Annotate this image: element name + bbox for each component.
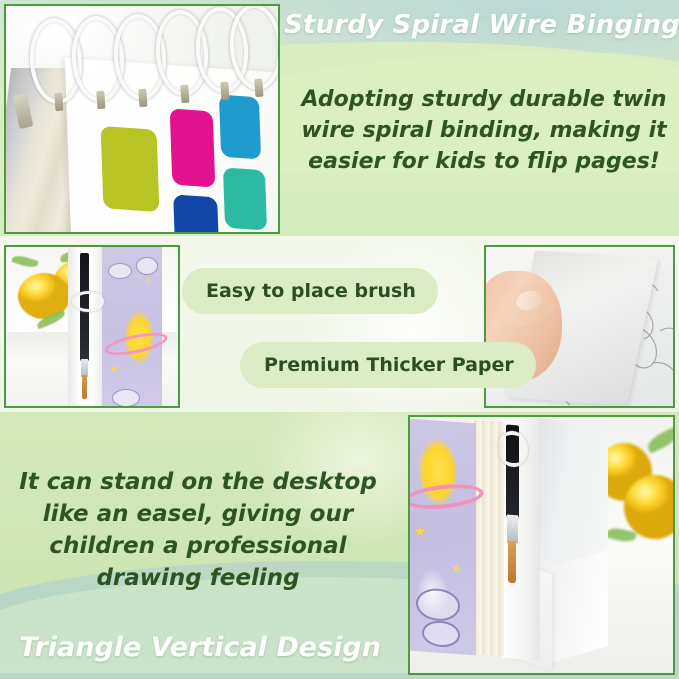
spiral-photo-scene xyxy=(6,6,278,232)
photo-spiral-binding xyxy=(4,4,280,234)
speech-bubble xyxy=(112,389,140,406)
description-bottom: It can stand on the desktop like an ease… xyxy=(14,466,382,594)
star-icon xyxy=(414,525,426,538)
product-infographic: Sturdy Spiral Wire Binging Adopting stur… xyxy=(0,0,679,679)
leaf xyxy=(645,426,673,453)
lemon xyxy=(624,475,673,539)
cover-swatch-teal xyxy=(223,167,267,230)
planet-ring xyxy=(103,329,169,360)
cover-swatch-cyan xyxy=(219,95,261,160)
cover-swatch-magenta xyxy=(170,108,216,187)
photo-triangle-easel xyxy=(408,415,675,675)
easel-flap-right xyxy=(546,550,608,664)
space-themed-cover xyxy=(102,247,162,406)
cover-doodle xyxy=(422,620,460,649)
feature-pill-paper-label: Premium Thicker Paper xyxy=(264,354,514,376)
headline-top: Sturdy Spiral Wire Binging xyxy=(288,4,676,46)
cover-swatch-olive xyxy=(101,126,160,212)
paint-brush-bristles xyxy=(508,541,516,584)
space-themed-cover xyxy=(410,419,476,656)
photo-brush-holder xyxy=(4,245,180,408)
paint-brush-bristles xyxy=(82,375,87,399)
brush-photo-scene xyxy=(6,247,178,406)
star-icon xyxy=(146,277,152,283)
easel-photo-scene xyxy=(410,417,673,673)
planet-ring xyxy=(410,481,485,512)
speech-bubble xyxy=(108,263,132,279)
speech-bubble xyxy=(136,257,158,275)
elastic-brush-loop xyxy=(72,291,104,312)
feature-pill-brush-label: Easy to place brush xyxy=(206,280,416,302)
star-icon xyxy=(110,365,118,373)
headline-bottom: Triangle Vertical Design xyxy=(0,632,400,663)
paint-brush-ferrule xyxy=(507,515,518,544)
description-top: Adopting sturdy durable twin wire spiral… xyxy=(292,84,676,177)
leaf xyxy=(11,253,39,270)
feature-pill-brush: Easy to place brush xyxy=(182,268,438,314)
cover-doodle xyxy=(416,587,460,622)
cover-swatch-blue xyxy=(173,194,219,232)
feature-pill-paper: Premium Thicker Paper xyxy=(240,342,536,388)
star-icon xyxy=(452,564,461,574)
